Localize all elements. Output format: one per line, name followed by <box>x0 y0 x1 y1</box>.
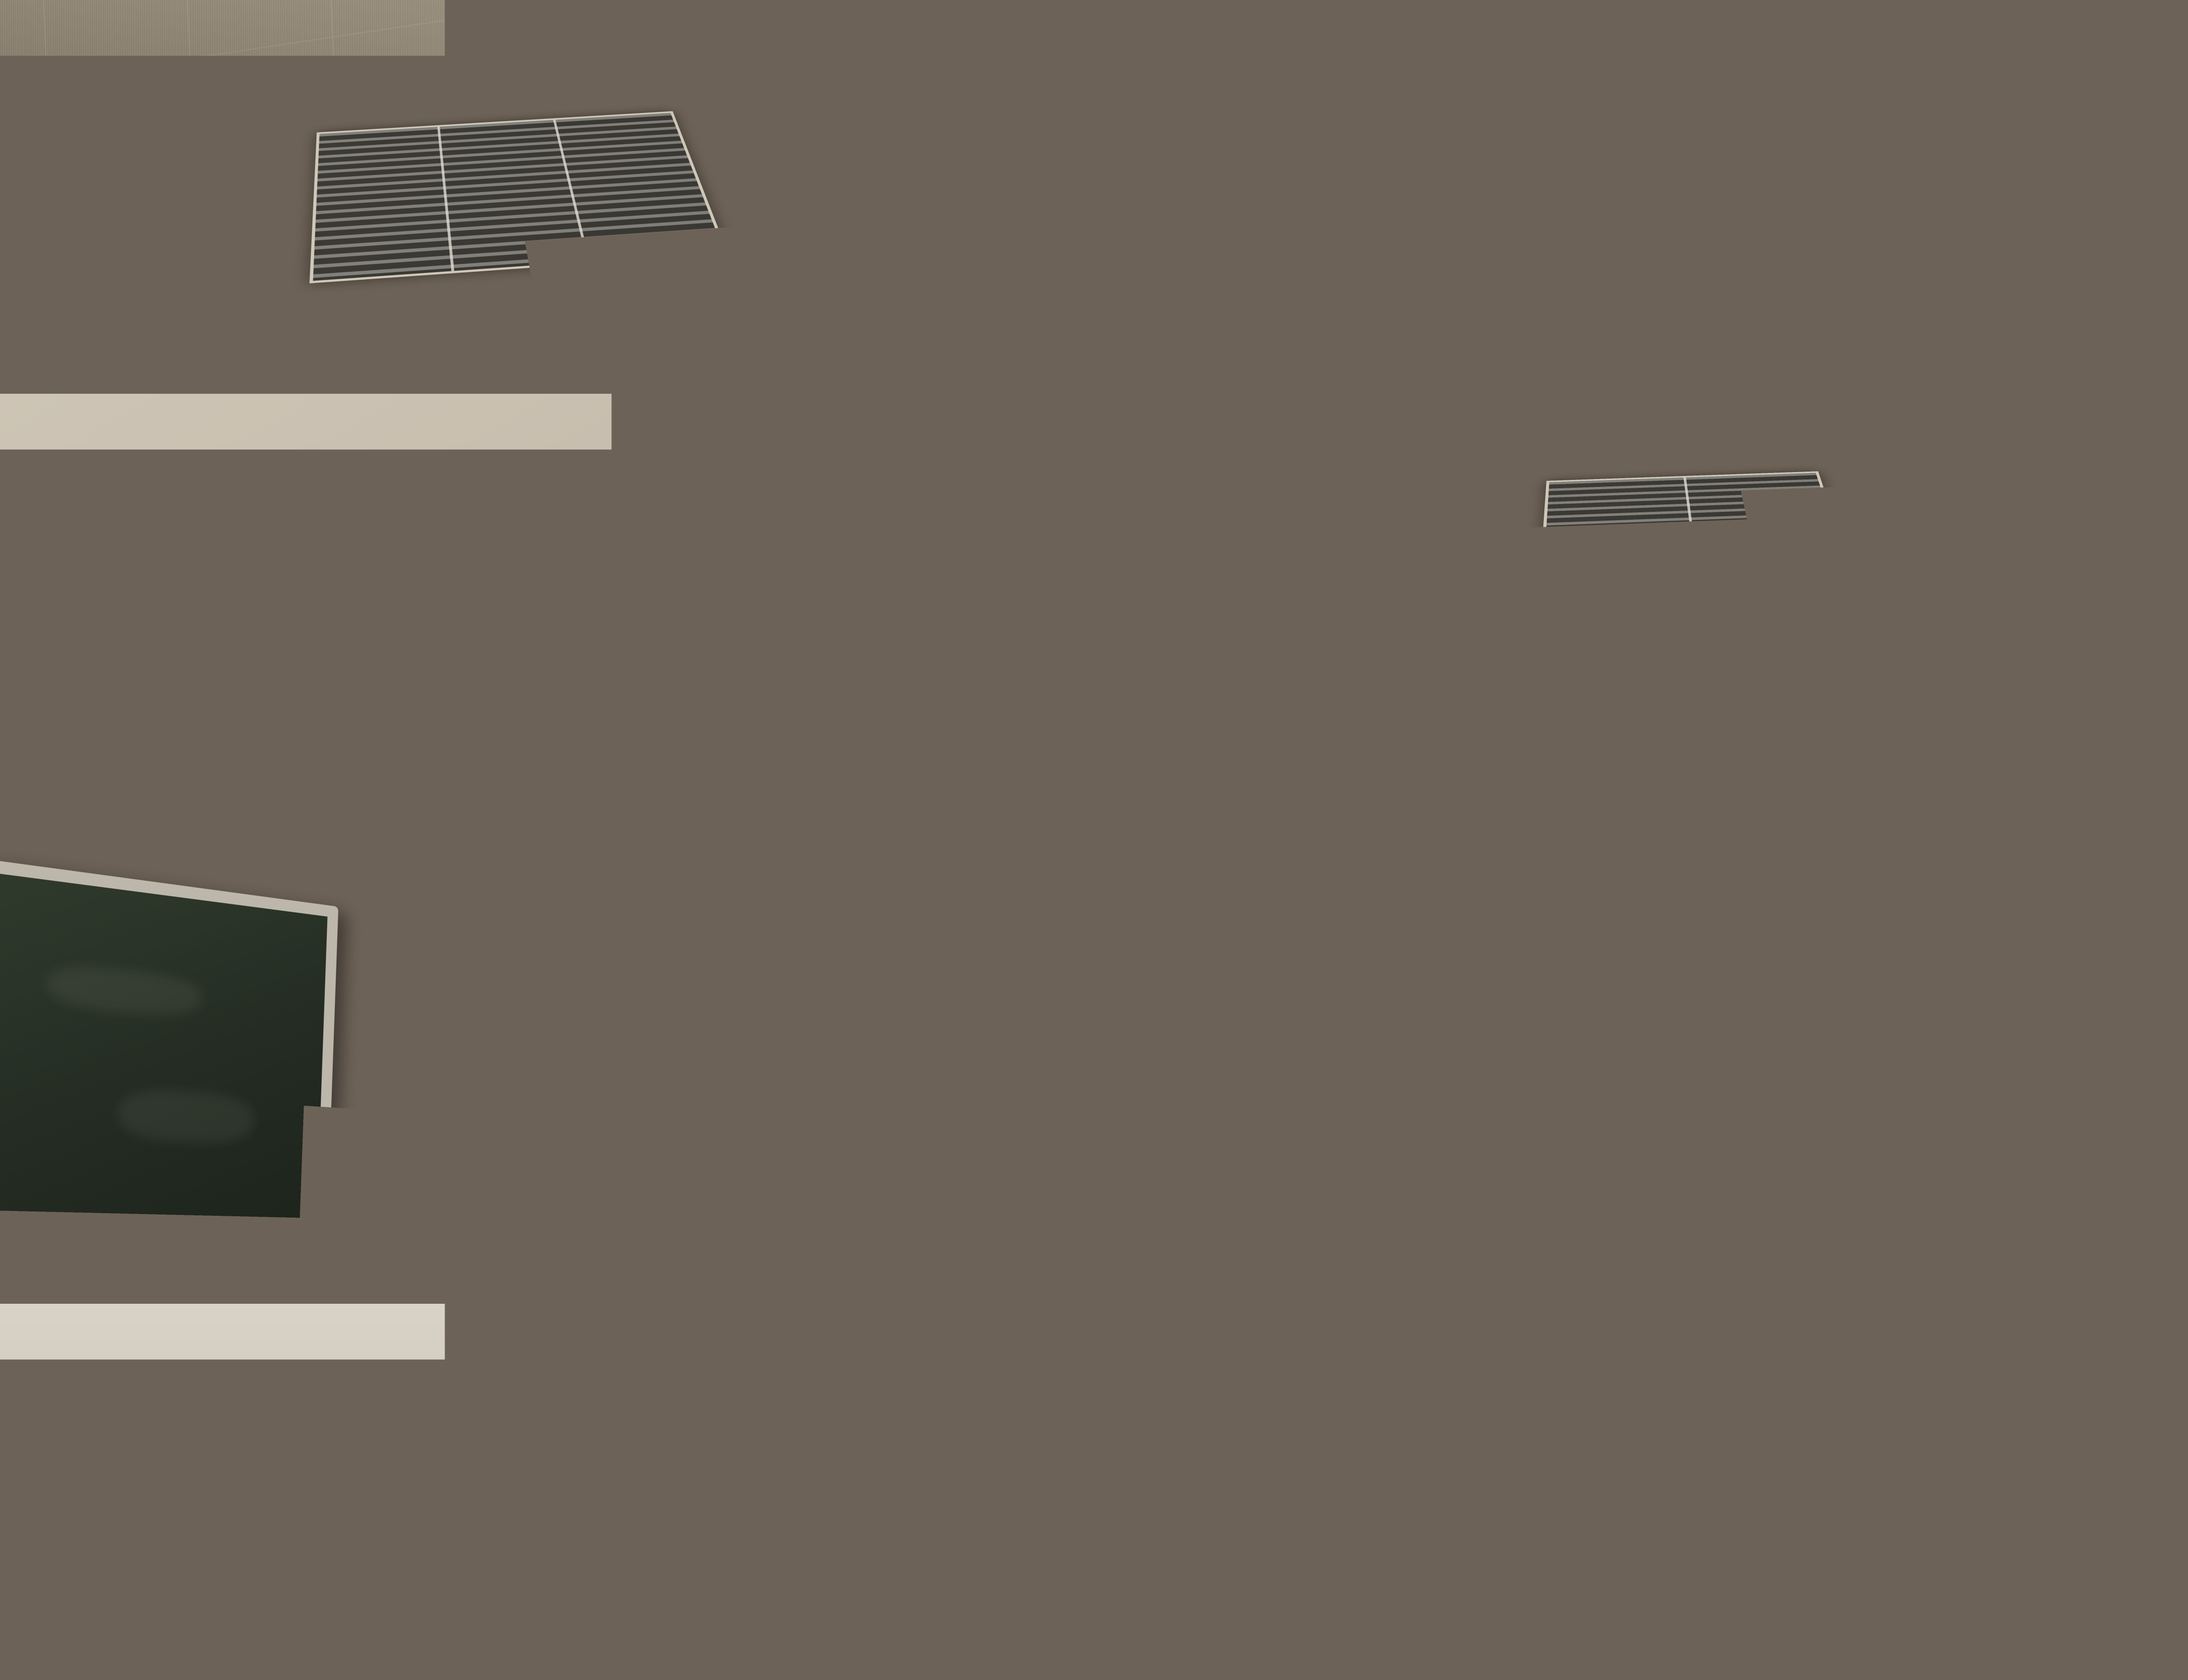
presenter-head <box>1750 982 1808 1053</box>
shirt-button <box>1773 1124 1782 1133</box>
metal-wall-panel <box>1799 704 1987 849</box>
presenter-jade-pendant <box>1768 1063 1787 1078</box>
backpack-zipper-pull <box>859 1418 868 1444</box>
wall-pillar-shadow <box>1569 663 1621 1249</box>
red-backpack[interactable]: Pink Girl <box>696 1269 941 1496</box>
wall-speaker <box>1731 720 1807 842</box>
chalk-smudge <box>7 1216 133 1252</box>
smartphone-on-desk[interactable] <box>1033 1589 1160 1648</box>
microphone-head-icon <box>1729 1037 1748 1056</box>
chair-asset-sticker <box>1834 1420 1864 1443</box>
wall-pillar <box>1457 674 1571 1242</box>
chalk-piece[interactable] <box>144 884 171 895</box>
ac-display-panel[interactable] <box>1895 1112 1965 1138</box>
chalkboard-surface <box>0 873 327 1438</box>
chalkboard <box>0 858 338 1451</box>
louver-blades <box>313 113 724 281</box>
foreground-attendee-collar <box>1260 1225 1505 1277</box>
lecture-room-photo: 健康的生活方式 许多人不是死于疾病，而 是死于无知，死于不健康 的生活方式。 —… <box>0 0 2188 1680</box>
ceiling-light-3 <box>1541 471 1842 555</box>
ceiling-light-2 <box>903 283 1232 385</box>
power-outlet[interactable] <box>523 1510 560 1550</box>
presenter-shirt <box>1698 1050 1882 1234</box>
backpack-care-tag <box>786 1466 826 1494</box>
chair-back-1[interactable] <box>1764 1391 1882 1553</box>
chalk-smudge <box>157 1280 290 1335</box>
ac-grille <box>1843 959 2003 1071</box>
curtain-rail <box>1829 569 2188 580</box>
ceiling-light-1 <box>309 111 728 283</box>
shirt-button <box>1773 1098 1782 1107</box>
ac-energy-label <box>1974 1098 2002 1151</box>
louver-blades <box>906 285 1228 383</box>
shirt-button <box>1773 1151 1782 1159</box>
